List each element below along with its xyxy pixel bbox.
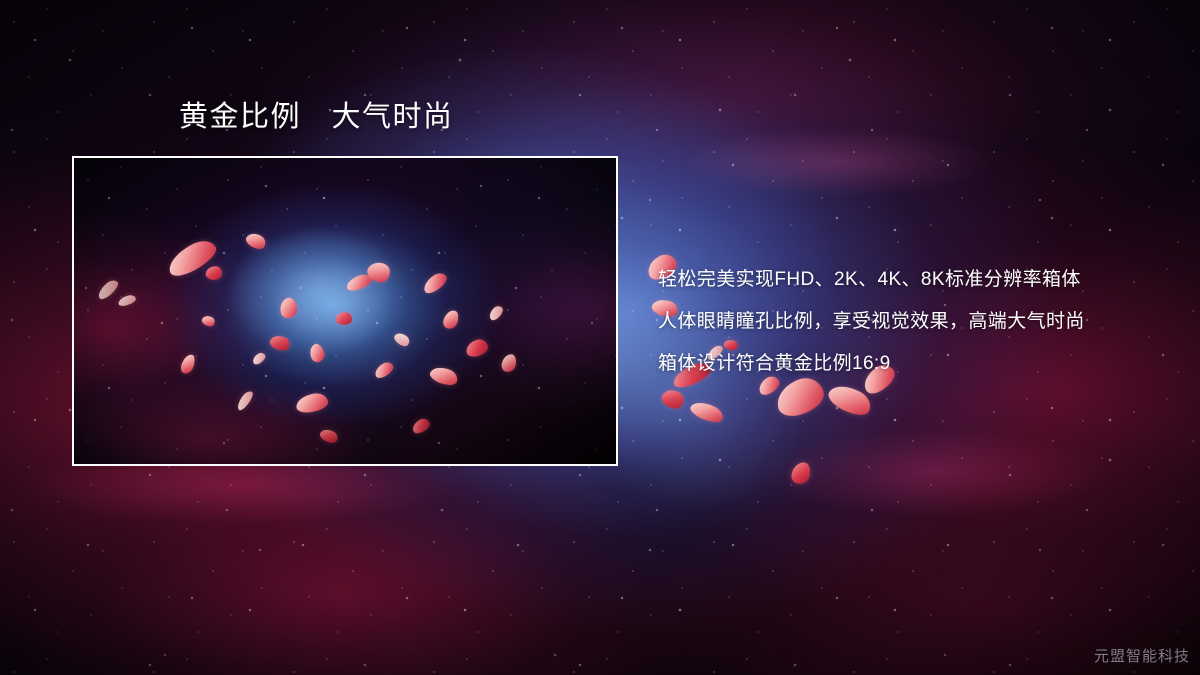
preview-vignette xyxy=(74,158,616,464)
copy-line-1: 轻松完美实现FHD、2K、4K、8K标准分辨率箱体 xyxy=(658,259,1168,301)
watermark: 元盟智能科技 xyxy=(1094,645,1190,666)
preview-image-frame xyxy=(72,156,618,466)
presentation-slide: 黄金比例 大气时尚 xyxy=(0,0,1200,675)
petal xyxy=(659,385,687,412)
page-title: 黄金比例 大气时尚 xyxy=(179,101,454,134)
copy-line-2: 人体眼睛瞳孔比例，享受视觉效果，高端大气时尚 xyxy=(658,301,1168,343)
copy-line-3: 箱体设计符合黄金比例16:9 xyxy=(658,343,1168,385)
body-copy: 轻松完美实现FHD、2K、4K、8K标准分辨率箱体 人体眼睛瞳孔比例，享受视觉效… xyxy=(658,259,1168,385)
petal xyxy=(688,398,726,426)
preview-image xyxy=(74,158,616,464)
petal xyxy=(790,460,812,485)
